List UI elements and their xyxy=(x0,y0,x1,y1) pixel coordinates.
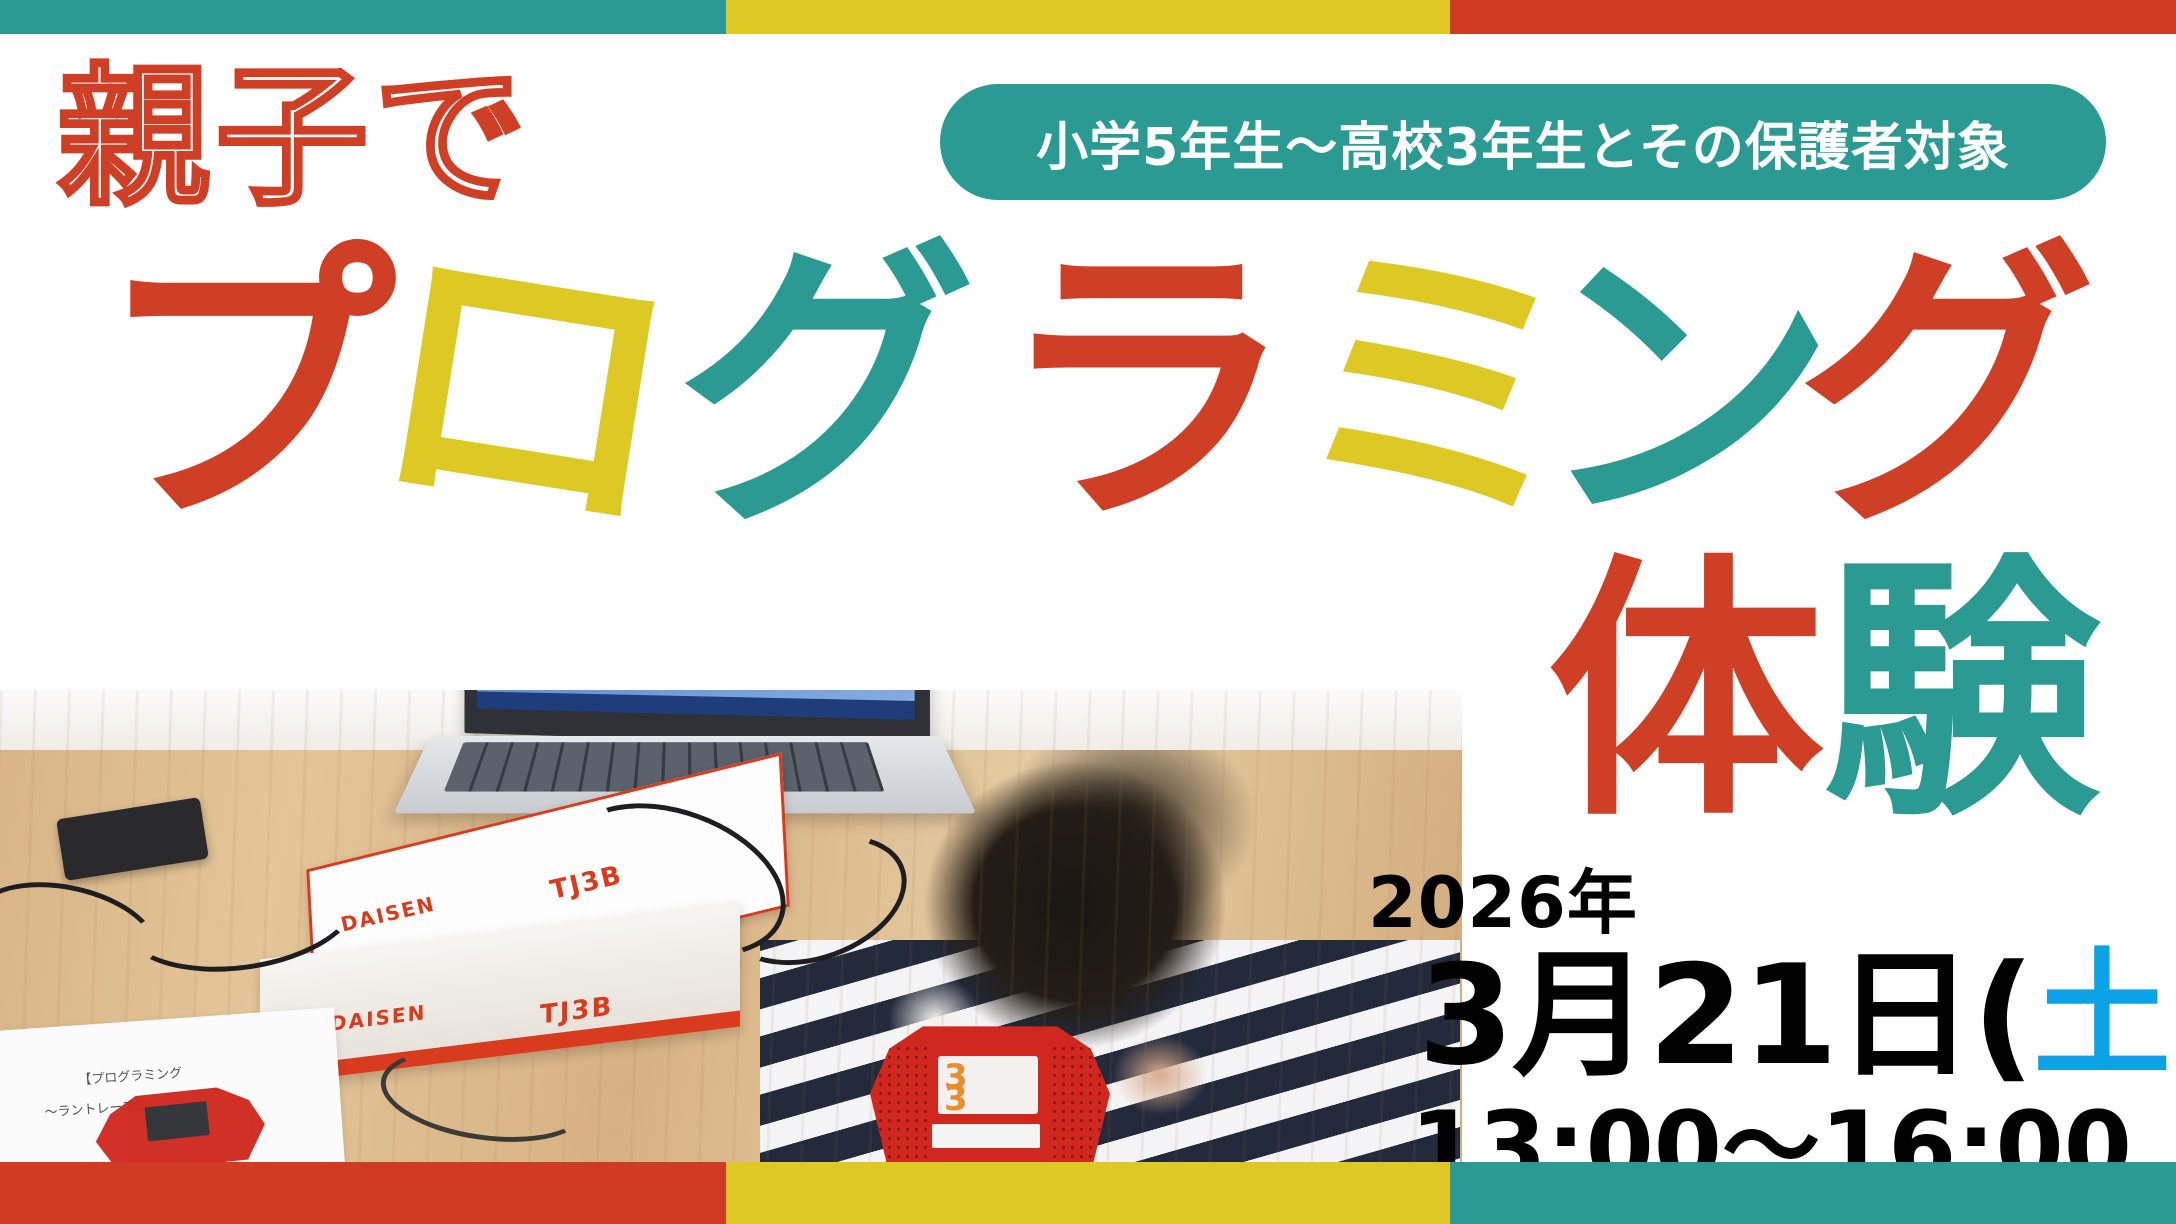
robot-circuit-board: 3 3 xyxy=(870,1020,1110,1162)
board-header-left xyxy=(876,1044,930,1162)
event-day-date: 3月21日 xyxy=(1418,935,1972,1096)
board-header-right xyxy=(1050,1044,1104,1162)
hero-photo: DAISEN TJ3B DAISEN TJ3B 【プログラミング 〜ラントレース… xyxy=(0,690,1462,1162)
laptop-screen-taskbar xyxy=(477,691,915,719)
headline-char-ken: 験 xyxy=(1824,533,2100,854)
headline-line-oyako: 親子で xyxy=(58,62,532,214)
top-bar-segment-red xyxy=(1450,0,2176,34)
bottom-color-bar xyxy=(0,1162,2176,1224)
event-weekday-paren-close: ) xyxy=(2169,935,2176,1096)
board-label-o2: 3 xyxy=(944,1082,968,1116)
event-date-block: 2026年 3月21日(土) 13:00〜16:00 xyxy=(1358,868,2168,1197)
headline-char-ra: ラ xyxy=(996,240,1296,540)
mini-board-chip xyxy=(145,1101,210,1141)
event-weekday: 土 xyxy=(2033,935,2169,1096)
headline-line-taiken: 体験 xyxy=(1548,556,2100,832)
top-color-bar xyxy=(0,0,2176,34)
headline-char-ro: ロ xyxy=(354,218,697,561)
top-bar-segment-teal xyxy=(0,0,726,34)
headline-char-gu: グ xyxy=(676,240,976,540)
event-year: 2026年 xyxy=(1368,868,2168,938)
laptop-screen xyxy=(477,690,915,720)
audience-pill-label: 小学5年生〜高校3年生とその保護者対象 xyxy=(1036,105,2010,180)
event-day: 3月21日(土) xyxy=(1418,944,2168,1089)
paper-text-line-1: 【プログラミング xyxy=(78,1062,183,1088)
board-ic-chip xyxy=(932,1124,1040,1148)
headline-char-tai: 体 xyxy=(1548,533,1824,854)
headline-char-pu: プ xyxy=(96,240,396,540)
headline-char-gu2: グ xyxy=(1796,240,2096,540)
headline-char-n: ン xyxy=(1536,240,1836,540)
hero-photo-image: DAISEN TJ3B DAISEN TJ3B 【プログラミング 〜ラントレース… xyxy=(0,690,1462,1162)
bottom-bar-segment-yellow xyxy=(726,1162,1450,1224)
top-bar-segment-yellow xyxy=(726,0,1450,34)
bottom-bar-segment-red xyxy=(0,1162,726,1224)
bottom-bar-segment-teal xyxy=(1450,1162,2176,1224)
audience-pill: 小学5年生〜高校3年生とその保護者対象 xyxy=(940,84,2106,200)
headline-line-programming: プ ロ グ ラ ミ ン グ xyxy=(96,240,2086,570)
poster-root: DAISEN TJ3B DAISEN TJ3B 【プログラミング 〜ラントレース… xyxy=(0,0,2176,1224)
event-weekday-paren-open: ( xyxy=(1972,935,2033,1096)
board-battery-pack: 3 3 xyxy=(938,1056,1038,1114)
